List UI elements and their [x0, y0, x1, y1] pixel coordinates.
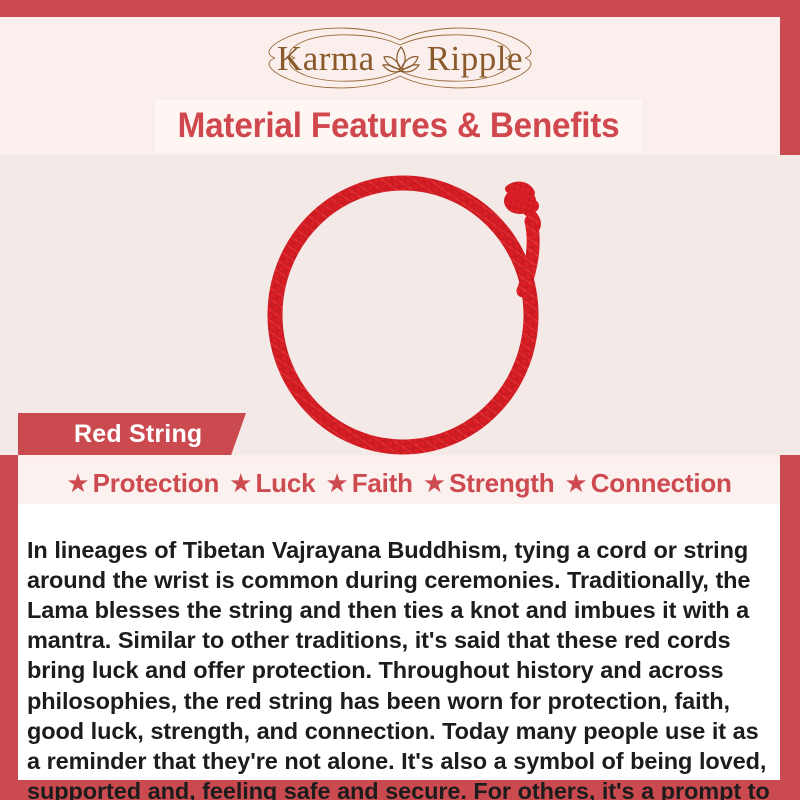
benefit-label: Luck: [255, 468, 315, 499]
star-icon: ★: [423, 470, 446, 496]
material-name-label: Red String: [74, 420, 202, 449]
benefit-item-luck: ★ Luck: [226, 468, 318, 499]
star-icon: ★: [66, 470, 89, 496]
star-icon: ★: [325, 470, 348, 496]
benefit-item-faith: ★ Faith: [322, 468, 415, 499]
infographic-page: Karma Ripple Material Features & Benefit…: [0, 0, 800, 800]
benefit-label: Strength: [449, 468, 554, 499]
brand-word-right: Ripple: [427, 41, 523, 76]
frame-top-bar: [0, 0, 800, 17]
star-icon: ★: [564, 470, 587, 496]
benefit-item-connection: ★ Connection: [561, 468, 734, 499]
benefit-item-strength: ★ Strength: [420, 468, 558, 499]
benefit-label: Protection: [93, 468, 220, 499]
red-string-bracelet-image: [255, 173, 565, 455]
star-icon: ★: [229, 470, 252, 496]
description-text: In lineages of Tibetan Vajrayana Buddhis…: [27, 535, 775, 800]
logo-lockup: Karma Ripple: [235, 27, 565, 89]
title-banner: Material Features & Benefits: [155, 100, 642, 152]
benefit-label: Faith: [352, 468, 413, 499]
product-photo: [0, 155, 800, 455]
material-name-ribbon: Red String: [18, 413, 246, 455]
benefit-item-protection: ★ Protection: [63, 468, 222, 499]
brand-logo: Karma Ripple: [0, 26, 800, 90]
benefits-list: ★ Protection ★ Luck ★ Faith ★ Strength ★…: [18, 462, 780, 504]
lotus-icon: [379, 38, 423, 78]
brand-word-left: Karma: [277, 41, 375, 76]
page-title: Material Features & Benefits: [178, 106, 620, 146]
description-panel: In lineages of Tibetan Vajrayana Buddhis…: [18, 504, 780, 780]
benefit-label: Connection: [591, 468, 732, 499]
